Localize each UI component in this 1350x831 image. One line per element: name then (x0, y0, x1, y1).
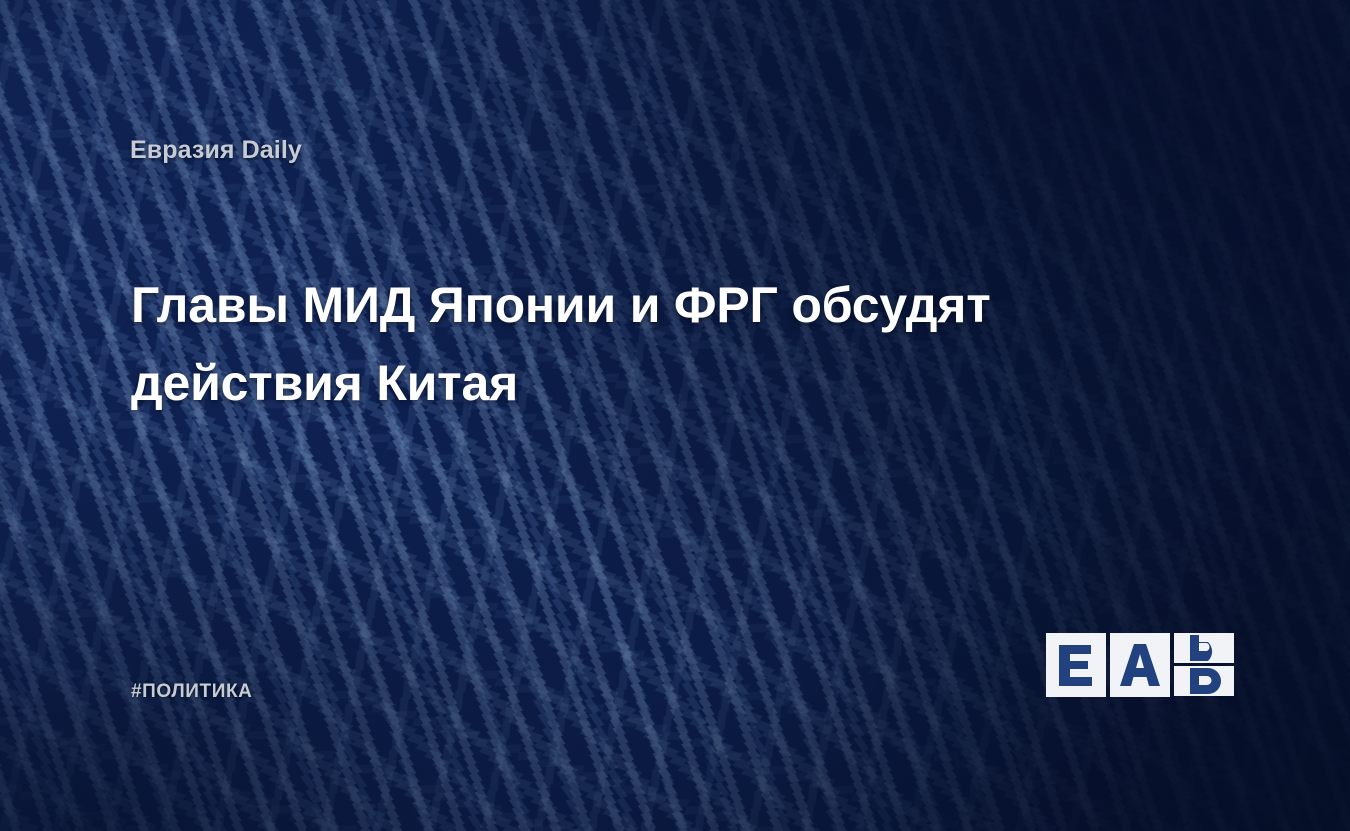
logo-tile-d-bottom (1174, 666, 1234, 696)
logo-tile-d-split (1174, 633, 1234, 696)
eadaily-logo (1046, 633, 1234, 697)
logo-tile-a (1110, 633, 1170, 697)
news-share-card: Евразия Daily Главы МИД Японии и ФРГ обс… (0, 0, 1350, 831)
letter-e-icon (1057, 643, 1095, 687)
page-title: Главы МИД Японии и ФРГ обсудят действия … (131, 266, 1071, 422)
letter-a-icon (1119, 643, 1161, 687)
letter-d-bottom-half-icon (1184, 668, 1224, 694)
logo-tile-d-top (1174, 633, 1234, 663)
logo-tile-e (1046, 633, 1106, 697)
card-content: Евразия Daily Главы МИД Японии и ФРГ обс… (0, 0, 1350, 831)
category-tag: #ПОЛИТИКА (131, 681, 253, 703)
letter-d-top-half-icon (1184, 635, 1224, 661)
site-name: Евразия Daily (130, 136, 302, 165)
